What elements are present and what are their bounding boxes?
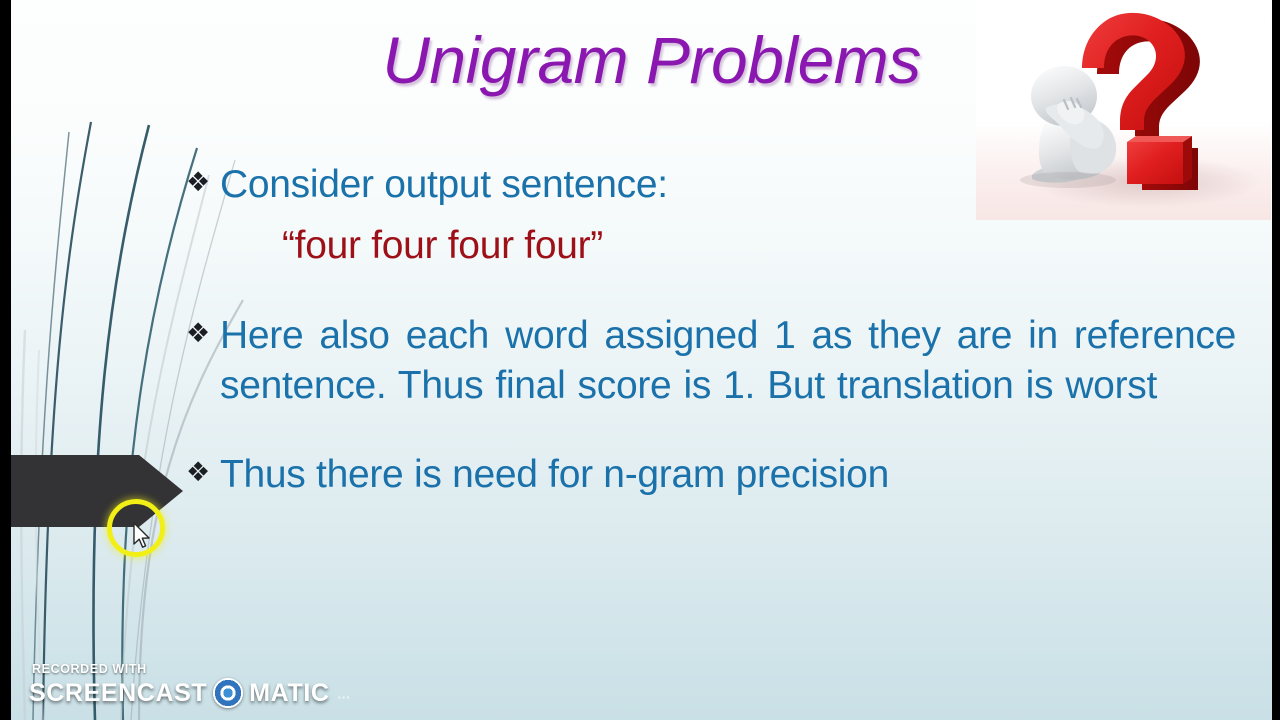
diamond-bullet-icon: ❖ [186, 320, 220, 347]
letterbox-bar-left [0, 0, 11, 720]
watermark-brand-right: MATIC [249, 679, 329, 708]
slide-title-text: Unigram Problems [362, 26, 921, 95]
slide-body: ❖ Consider output sentence: “four four f… [186, 160, 1236, 500]
bullet-text-2: Here also each word assigned 1 as they a… [220, 311, 1236, 412]
diamond-bullet-icon: ❖ [186, 459, 220, 486]
watermark-brand-left: SCREENCAST [29, 679, 207, 708]
bullet-text-3: Thus there is need for n-gram precision [220, 450, 1236, 500]
quoted-sentence-text: “four four four four” [186, 222, 1236, 271]
watermark-recorded-with: RECORDED WITH [29, 662, 351, 676]
letterbox-bar-right [1272, 0, 1280, 720]
video-frame: Unigram Problems ❖ Consider output sente… [0, 0, 1280, 720]
presentation-slide: Unigram Problems ❖ Consider output sente… [11, 0, 1272, 720]
bullet-text-1: Consider output sentence: [220, 160, 1236, 210]
bullet-item-2: ❖ Here also each word assigned 1 as they… [186, 311, 1236, 412]
watermark-tail: ··· [336, 690, 351, 708]
diamond-bullet-icon: ❖ [186, 169, 220, 196]
bullet-item-3: ❖ Thus there is need for n-gram precisio… [186, 450, 1236, 500]
screencast-o-matic-logo-icon [213, 678, 243, 708]
bullet-item-1: ❖ Consider output sentence: [186, 160, 1236, 210]
quoted-sentence: “four four four four” [186, 222, 1236, 271]
mouse-pointer-icon [132, 522, 152, 550]
screencast-o-matic-watermark: RECORDED WITH SCREENCAST MATIC ··· [29, 662, 351, 708]
slide-title: Unigram Problems [11, 26, 1272, 95]
